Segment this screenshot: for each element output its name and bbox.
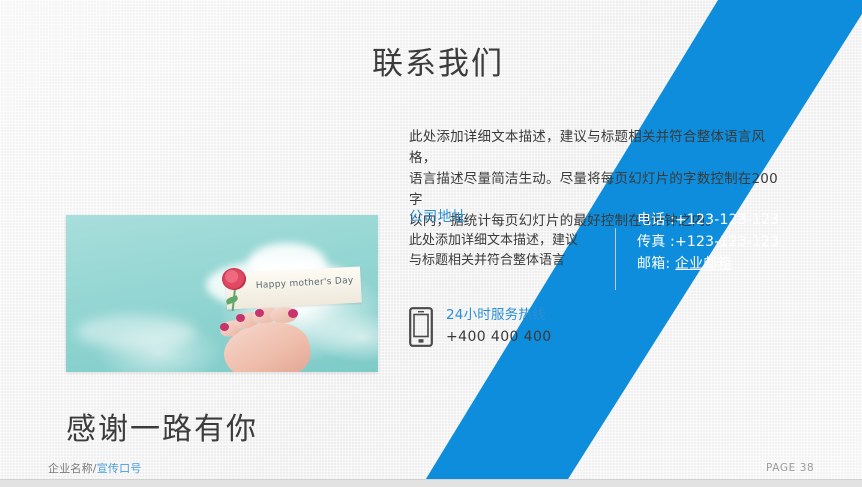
photo-cloud-low (76, 315, 196, 349)
photo-nail-2 (236, 314, 245, 322)
contact-label-email: 邮箱 (637, 256, 665, 272)
photo-nail-1 (220, 323, 229, 331)
contact-label-phone: 电话 (637, 212, 665, 228)
hotline-block: 24小时服务热线 +400 400 400 (409, 306, 552, 347)
address-title: 公司地址 (409, 207, 599, 228)
thanks-heading: 感谢一路有你 (66, 404, 258, 448)
address-body: 此处添加详细文本描述，建议 与标题相关并符合整体语言 (409, 231, 599, 271)
hotline-title: 24小时服务热线 (446, 306, 552, 325)
contact-sep-phone: : (665, 212, 675, 228)
contact-label-fax: 传真 (637, 234, 665, 250)
contact-value-phone: +123-123-123 (675, 212, 779, 228)
footer-company-slogan: 企业名称/宣传口号 (48, 460, 142, 476)
photo-hand (206, 301, 326, 372)
photo-nail-4 (288, 309, 298, 318)
smartphone-icon (409, 307, 433, 347)
photo-nail-3 (255, 309, 264, 317)
address-block: 公司地址 此处添加详细文本描述，建议 与标题相关并符合整体语言 (409, 207, 599, 271)
photo-hand-carnation: Happy mother's Day (66, 215, 378, 372)
contact-value-fax: +123-123-123 (675, 234, 779, 250)
hotline-text: 24小时服务热线 +400 400 400 (446, 306, 552, 347)
contact-value-email[interactable]: 企业邮箱 (675, 256, 732, 272)
contact-row-fax: 传真 :+123-123-123 (637, 231, 837, 253)
slide-canvas: 联系我们 此处添加详细文本描述，建议与标题相关并符合整体语言风格， 语言描述尽量… (0, 0, 862, 487)
page-number: PAGE 38 (766, 462, 814, 474)
contact-row-phone: 电话 :+123-123-123 (637, 209, 837, 231)
vertical-divider (615, 228, 616, 290)
footer-bar (0, 480, 862, 487)
contact-row-email[interactable]: 邮箱: 企业邮箱 (637, 253, 837, 275)
footer-slogan: 宣传口号 (97, 462, 142, 475)
contact-block: 电话 :+123-123-123 传真 :+123-123-123 邮箱: 企业… (637, 209, 837, 275)
lead-line-2: 语言描述尽量简洁生动。尽量将每页幻灯片的字数控制在200字 (409, 169, 787, 211)
photo-carnation-bloom (222, 268, 246, 290)
photo-banner-text: Happy mother's Day (256, 276, 354, 291)
contact-sep-fax: : (665, 234, 675, 250)
address-body-line-2: 与标题相关并符合整体语言 (409, 251, 599, 271)
footer-company: 企业名称/ (48, 462, 97, 475)
lead-line-1: 此处添加详细文本描述，建议与标题相关并符合整体语言风格， (409, 127, 787, 169)
hotline-number: +400 400 400 (446, 327, 552, 347)
address-body-line-1: 此处添加详细文本描述，建议 (409, 231, 599, 251)
page-title: 联系我们 (372, 38, 504, 83)
contact-sep-email: : (665, 256, 675, 272)
